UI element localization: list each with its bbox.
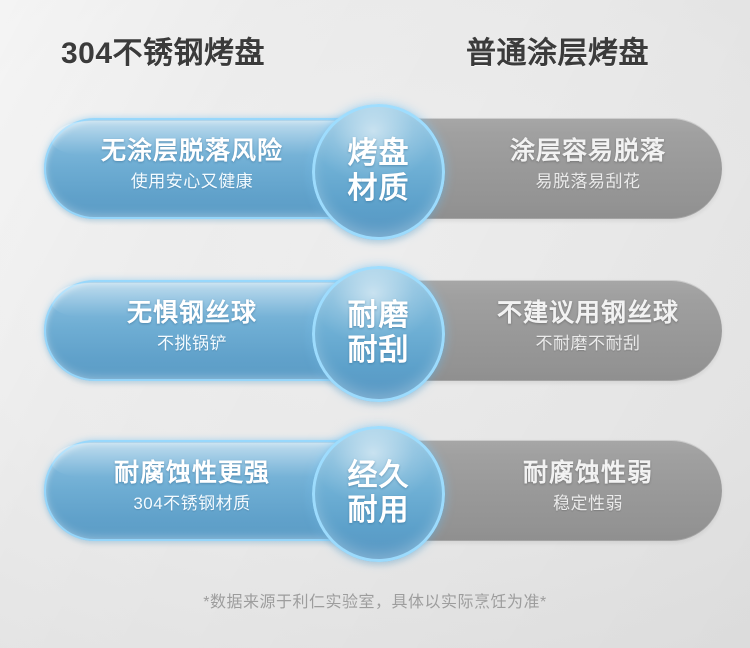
comparison-row: 无涂层脱落风险 使用安心又健康 涂层容易脱落 易脱落易刮花 烤盘 材质: [0, 100, 750, 240]
stainless-subline: 不挑锅铲: [62, 335, 322, 354]
comparison-row: 耐腐蚀性更强 304不锈钢材质 耐腐蚀性弱 稳定性弱 经久 耐用: [0, 422, 750, 562]
criterion-label-line1: 烤盘: [348, 137, 410, 172]
coated-subline: 易脱落易刮花: [458, 173, 718, 192]
coated-headline: 不建议用钢丝球: [458, 300, 718, 328]
stainless-text-block: 耐腐蚀性更强 304不锈钢材质: [62, 460, 322, 513]
coated-headline: 耐腐蚀性弱: [458, 460, 718, 488]
criterion-badge: 耐磨 耐刮: [312, 266, 445, 402]
stainless-text-block: 无惧钢丝球 不挑锅铲: [62, 300, 322, 353]
stainless-headline: 无惧钢丝球: [62, 300, 322, 328]
stainless-headline: 耐腐蚀性更强: [62, 460, 322, 488]
criterion-label-line1: 经久: [348, 459, 410, 494]
stainless-subline: 304不锈钢材质: [62, 495, 322, 514]
criterion-badge: 经久 耐用: [312, 426, 445, 562]
coated-headline: 涂层容易脱落: [458, 138, 718, 166]
comparison-row: 无惧钢丝球 不挑锅铲 不建议用钢丝球 不耐磨不耐刮 耐磨 耐刮: [0, 262, 750, 402]
criterion-label-line2: 耐刮: [348, 334, 410, 369]
comparison-infographic: 304不锈钢烤盘 普通涂层烤盘 无涂层脱落风险 使用安心又健康 涂层容易脱落 易…: [0, 0, 750, 648]
column-title-coated: 普通涂层烤盘: [466, 28, 649, 72]
coated-subline: 不耐磨不耐刮: [458, 335, 718, 354]
criterion-label-line2: 耐用: [348, 494, 410, 529]
coated-text-block: 耐腐蚀性弱 稳定性弱: [458, 460, 718, 513]
data-source-footnote: *数据来源于利仁实验室，具体以实际烹饪为准*: [0, 588, 750, 612]
column-headers: 304不锈钢烤盘 普通涂层烤盘: [0, 28, 750, 76]
criterion-badge: 烤盘 材质: [312, 104, 445, 240]
coated-text-block: 涂层容易脱落 易脱落易刮花: [458, 138, 718, 191]
column-title-stainless: 304不锈钢烤盘: [61, 28, 265, 72]
stainless-subline: 使用安心又健康: [62, 173, 322, 192]
stainless-text-block: 无涂层脱落风险 使用安心又健康: [62, 138, 322, 191]
coated-subline: 稳定性弱: [458, 495, 718, 514]
criterion-label-line1: 耐磨: [348, 299, 410, 334]
criterion-label-line2: 材质: [348, 172, 410, 207]
stainless-headline: 无涂层脱落风险: [62, 138, 322, 166]
coated-text-block: 不建议用钢丝球 不耐磨不耐刮: [458, 300, 718, 353]
